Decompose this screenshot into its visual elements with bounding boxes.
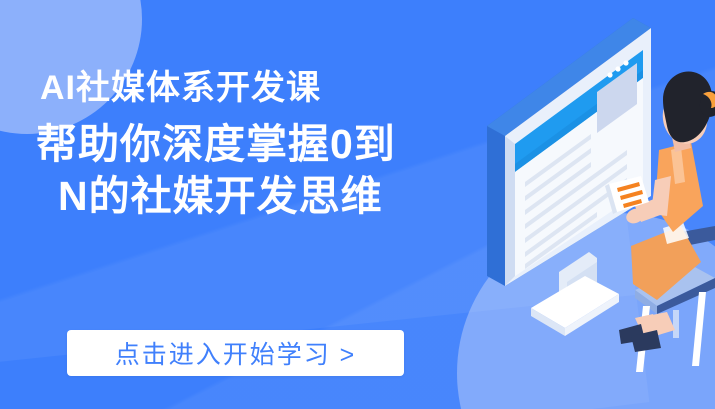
window-dot-1 (623, 60, 628, 65)
headline-line-2: 帮助你深度掌握0到 (36, 120, 516, 168)
start-learning-button[interactable]: 点击进入开始学习 > (67, 330, 404, 376)
headline-line-3: N的社媒开发思维 (58, 172, 516, 220)
headline-line-1: AI社媒体系开发课 (40, 68, 516, 108)
promo-banner: AI社媒体系开发课 帮助你深度掌握0到 N的社媒开发思维 点击进入开始学习 > (0, 0, 715, 409)
headline-block: AI社媒体系开发课 帮助你深度掌握0到 N的社媒开发思维 (36, 68, 516, 221)
window-dot-2 (615, 66, 620, 71)
illustration-person-at-computer (485, 0, 715, 409)
start-learning-button-label: 点击进入开始学习 > (115, 335, 357, 371)
window-dot-3 (607, 72, 612, 77)
chair-leg-back (692, 292, 706, 366)
